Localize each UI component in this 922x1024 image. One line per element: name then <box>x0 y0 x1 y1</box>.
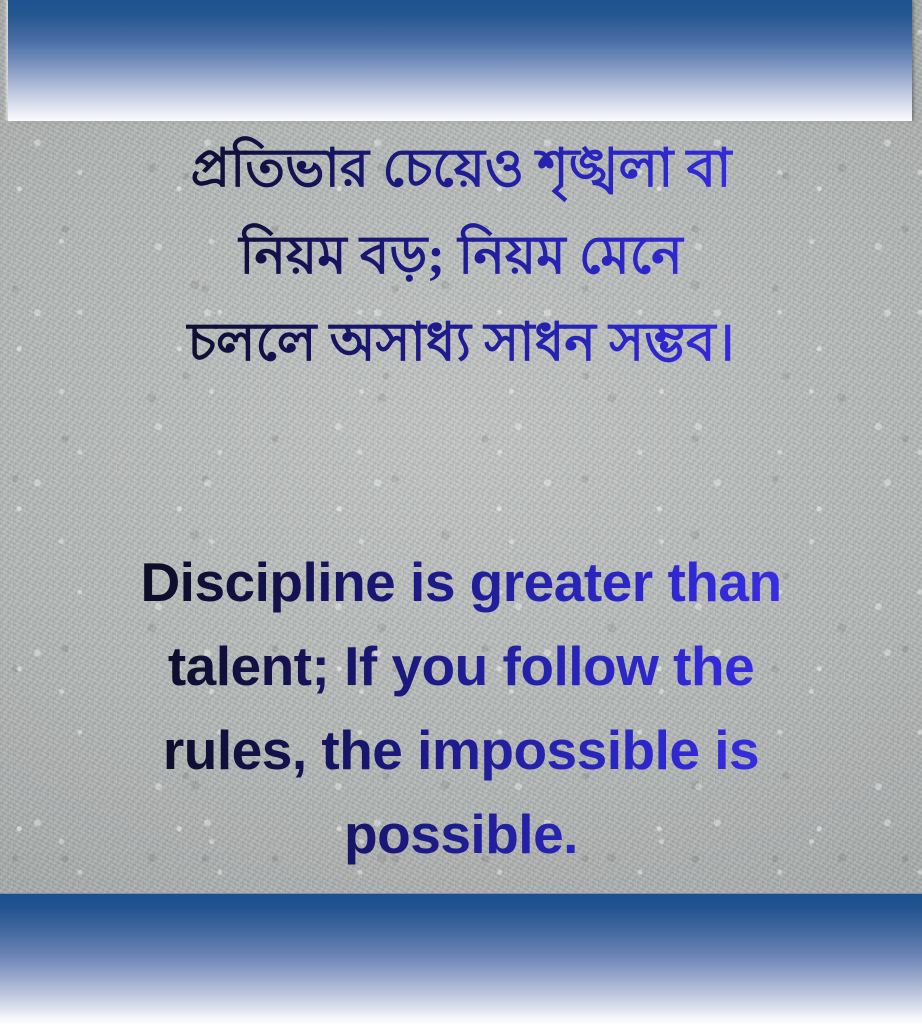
bottom-banner <box>0 893 922 1024</box>
english-quote-line-1: Discipline is greater than <box>0 540 922 624</box>
english-quote-line-2: talent; If you follow the <box>0 624 922 708</box>
bengali-quote-block: প্রতিভার চেয়েও শৃঙ্খলা বা নিয়ম বড়; নি… <box>0 126 922 387</box>
bengali-quote-line-1: প্রতিভার চেয়েও শৃঙ্খলা বা <box>0 126 922 213</box>
english-quote-block: Discipline is greater than talent; If yo… <box>0 540 922 876</box>
english-quote-line-4: possible. <box>0 792 922 876</box>
english-quote-line-3: rules, the impossible is <box>0 708 922 792</box>
top-banner-text <box>8 0 912 121</box>
top-banner <box>8 0 912 121</box>
bengali-quote-line-2: নিয়ম বড়; নিয়ম মেনে <box>0 213 922 300</box>
bengali-quote-line-3: চললে অসাধ্য সাধন সম্ভব। <box>0 300 922 387</box>
quote-card: প্রতিভার চেয়েও শৃঙ্খলা বা নিয়ম বড়; নি… <box>0 0 922 1024</box>
